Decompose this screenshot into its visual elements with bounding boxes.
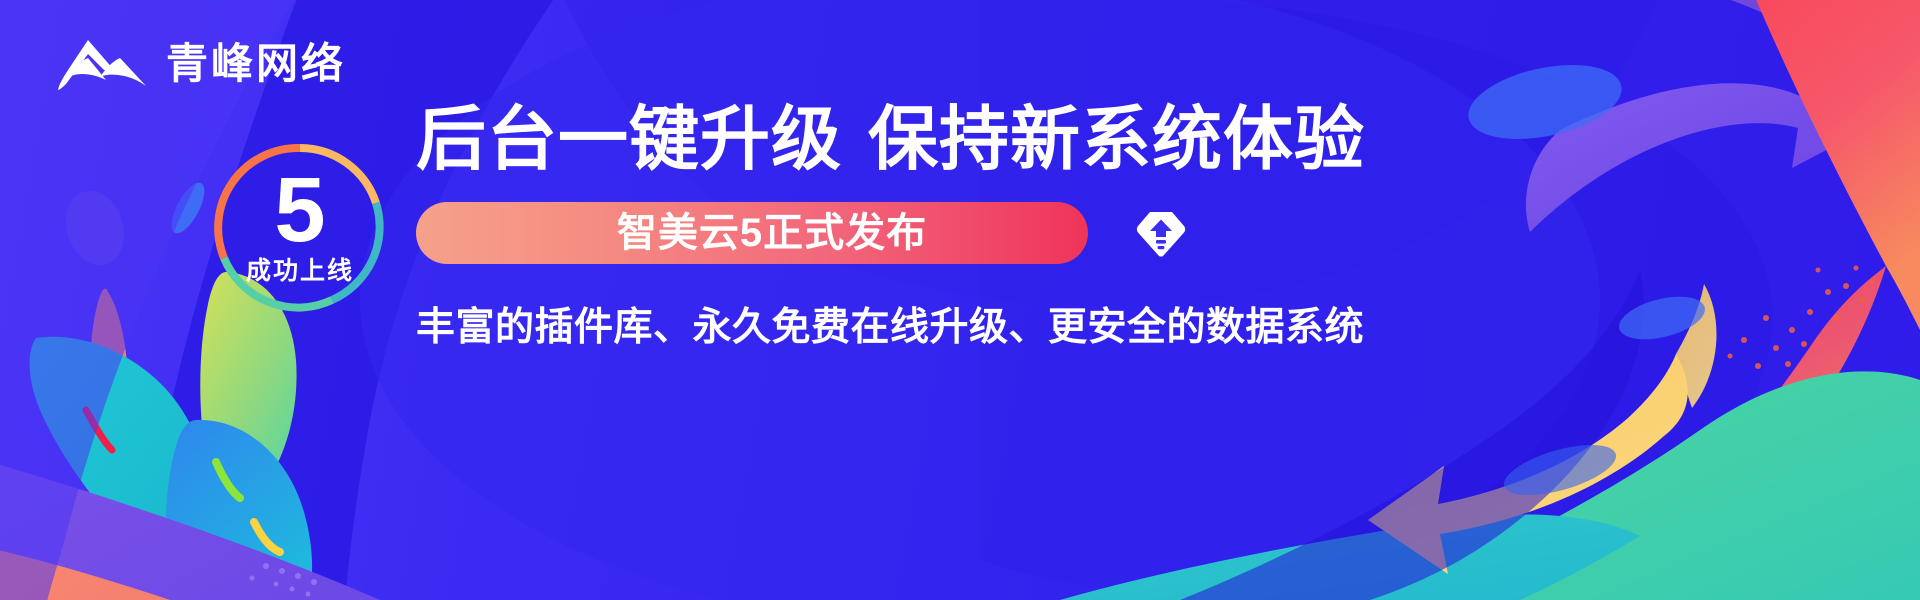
release-row: 智美云5正式发布 [416,202,1316,264]
headline-part-2: 保持新系统体验 [868,100,1365,178]
release-pill-label: 智美云5正式发布 [617,213,927,253]
brand-logo[interactable]: 青峰网络 [58,36,346,92]
badge-number: 5 [274,168,325,253]
badge-label: 成功上线 [246,259,354,284]
hero-content: 后台一键升级保持新系统体验 智美云5正式发布 丰富的插件库、永久免费在线升级、更… [416,104,1316,347]
mountain-peak-icon [58,36,150,92]
promo-banner: 青峰网络 5 成功上线 后台一键升级保持新系统体验 智美云5正式发布 [0,0,1920,600]
headline-part-1: 后台一键升级 [416,100,842,178]
hero-subtitle: 丰富的插件库、永久免费在线升级、更安全的数据系统 [416,308,1316,347]
upgrade-diamond-arrow-icon[interactable] [1134,206,1188,260]
hero-headline: 后台一键升级保持新系统体验 [416,104,1316,174]
brand-name: 青峰网络 [166,43,346,85]
release-pill-button[interactable]: 智美云5正式发布 [416,202,1088,264]
launch-ring-badge: 5 成功上线 [212,140,388,316]
